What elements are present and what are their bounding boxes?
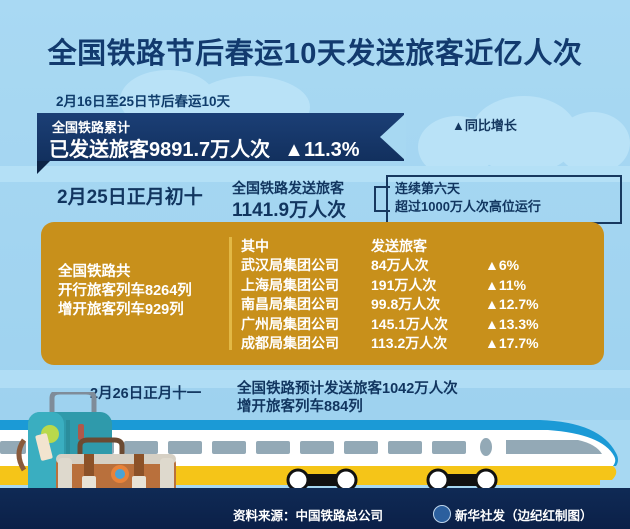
bureau-name: 武汉局集团公司: [241, 255, 371, 275]
day-report-value: 1141.9万人次: [232, 195, 346, 222]
bureau-name: 上海局集团公司: [241, 275, 371, 295]
bureau-value: 99.8万人次: [371, 294, 485, 314]
bureau-name: 广州局集团公司: [241, 314, 371, 334]
cumulative-row: 已发送旅客9891.7万人次▲11.3%: [49, 133, 360, 162]
callout-line-1: 连续第六天: [395, 178, 460, 197]
bureau-value: 191万人次: [371, 275, 485, 295]
table-row: 武汉局集团公司 84万人次 ▲6%: [241, 256, 565, 276]
callout-line-2: 超过1000万人次高位运行: [395, 196, 541, 215]
cumulative-value: 已发送旅客9891.7万人次: [49, 139, 270, 161]
page-title: 全国铁路节后春运10天发送旅客近亿人次: [0, 30, 630, 72]
subtitle: 2月16日至25日节后春运10天: [56, 90, 230, 110]
bureau-name: 南昌局集团公司: [241, 294, 371, 314]
bureau-growth: ▲13.3%: [485, 316, 565, 332]
xinhua-logo-icon: [433, 505, 451, 523]
table-row: 上海局集团公司 191万人次 ▲11%: [241, 275, 565, 295]
train-summary-line-3: 增开旅客列车929列: [58, 301, 192, 320]
callout-pointer: [374, 186, 390, 212]
footer-agency: 新华社发（边纪红制图）: [455, 505, 593, 524]
bureau-growth: ▲12.7%: [485, 296, 565, 312]
table-row: 成都局集团公司 113.2万人次 ▲17.7%: [241, 334, 565, 354]
bureau-table: 其中 发送旅客 武汉局集团公司 84万人次 ▲6% 上海局集团公司 191万人次…: [241, 236, 565, 353]
train-summary-line-2: 开行旅客列车8264列: [58, 282, 192, 301]
bureau-value: 145.1万人次: [371, 314, 485, 334]
header-name: 其中: [241, 236, 371, 256]
bureau-value: 113.2万人次: [371, 333, 485, 353]
table-row: 南昌局集团公司 99.8万人次 ▲12.7%: [241, 295, 565, 315]
train-summary-line-1: 全国铁路共: [58, 263, 192, 282]
bureau-name: 成都局集团公司: [241, 333, 371, 353]
bureau-growth: ▲17.7%: [485, 335, 565, 351]
cloud-shape: [556, 112, 630, 174]
day-report-date: 2月25日正月初十: [57, 182, 203, 209]
header-value: 发送旅客: [371, 236, 485, 256]
infographic-page: 全国铁路节后春运10天发送旅客近亿人次 2月16日至25日节后春运10天 全国铁…: [0, 0, 630, 529]
legend-growth: ▲同比增长: [452, 115, 517, 134]
train-summary: 全国铁路共 开行旅客列车8264列 增开旅客列车929列: [58, 263, 192, 320]
panel-divider: [229, 237, 232, 350]
footer-source: 资料来源：中国铁路总公司: [233, 505, 383, 524]
bureau-value: 84万人次: [371, 255, 485, 275]
table-row: 广州局集团公司 145.1万人次 ▲13.3%: [241, 314, 565, 334]
bureau-growth: ▲11%: [485, 277, 565, 293]
cumulative-growth: ▲11.3%: [284, 139, 359, 161]
table-header-row: 其中 发送旅客: [241, 236, 565, 256]
bureau-growth: ▲6%: [485, 257, 565, 273]
